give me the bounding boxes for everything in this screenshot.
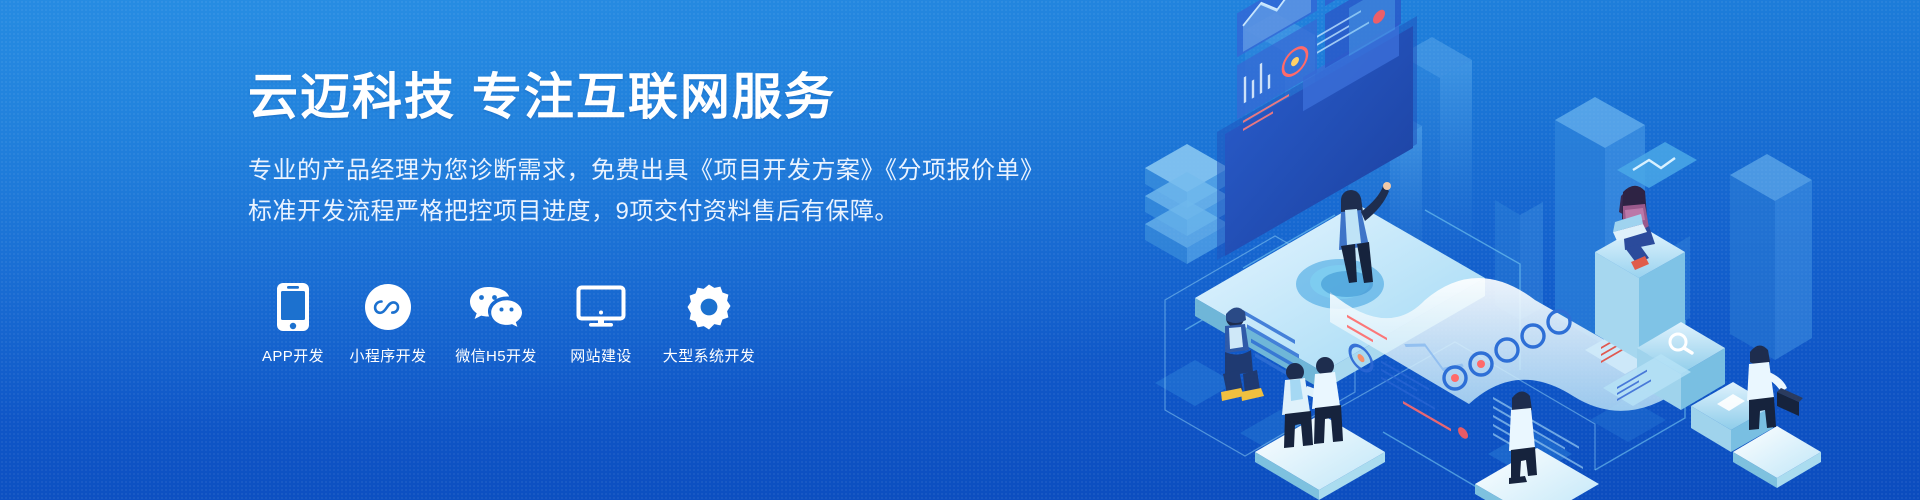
hero-illustration [1125,0,1920,500]
mini-program-icon [365,281,411,333]
service-label: 大型系统开发 [663,345,755,366]
mobile-phone-icon [276,281,310,333]
server-stack [1145,144,1229,264]
service-item-wechat-h5[interactable]: 微信H5开发 [440,281,552,366]
wechat-icon [468,281,524,333]
subtitle-line-1: 专业的产品经理为您诊断需求，免费出具《项目开发方案》《分项报价单》 [248,152,1045,191]
pad-single-figure [1475,448,1599,500]
monitor-icon [576,281,626,333]
service-item-app[interactable]: APP开发 [250,281,336,366]
service-list: APP开发 小程序开发 微信 [250,281,768,366]
subtitle-line-2: 标准开发流程严格把控项目进度，9项交付资料售后有保障。 [248,193,1045,232]
service-item-website[interactable]: 网站建设 [552,281,650,366]
dashboard-screen [1217,0,1417,260]
service-label: 网站建设 [570,345,632,366]
chart-bubble [1617,142,1697,188]
service-label: 微信H5开发 [455,345,537,366]
hero-subtitle: 专业的产品经理为您诊断需求，免费出具《项目开发方案》《分项报价单》 标准开发流程… [248,152,1045,232]
gear-icon [686,281,732,333]
hero-banner: 云迈科技 专注互联网服务 专业的产品经理为您诊断需求，免费出具《项目开发方案》《… [0,0,1920,500]
figure-with-briefcase [1747,345,1803,430]
service-label: APP开发 [262,345,324,366]
service-item-system[interactable]: 大型系统开发 [650,281,768,366]
hero-text-block: 云迈科技 专注互联网服务 专业的产品经理为您诊断需求，免费出具《项目开发方案》《… [248,68,1045,234]
page-title: 云迈科技 专注互联网服务 [248,68,1045,126]
service-label: 小程序开发 [349,345,426,366]
service-item-miniprogram[interactable]: 小程序开发 [336,281,440,366]
